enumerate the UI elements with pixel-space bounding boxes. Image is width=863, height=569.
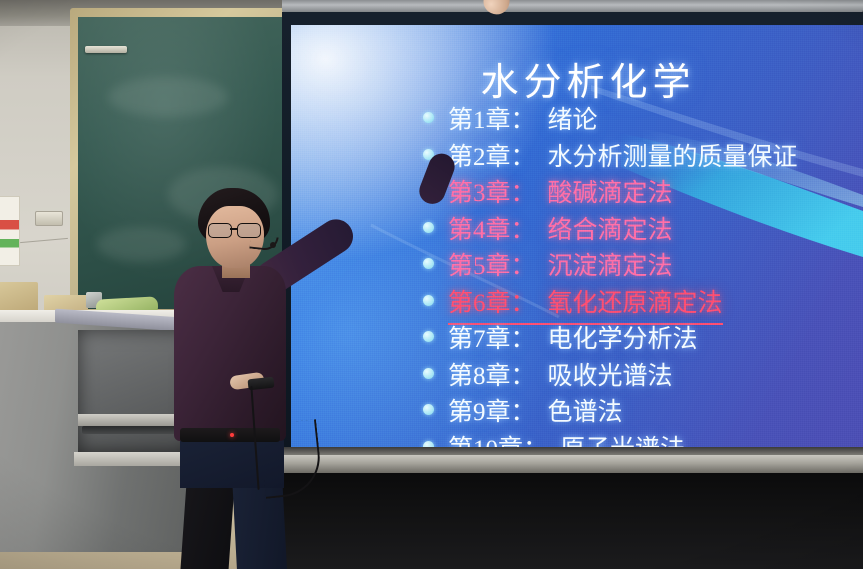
headset-microphone-capsule (270, 242, 276, 248)
wall-socket-plate (35, 211, 63, 226)
lecturer (150, 178, 410, 569)
classroom-photo: 水分析化学 第1章： 绪论 第2章： 水分析测量的质量保证 第3章： 酸碱滴定法… (0, 0, 863, 569)
torso-shirt (174, 266, 286, 441)
transmitter-led-icon (230, 433, 234, 437)
chalk-tray (85, 46, 127, 53)
glasses-bridge (230, 228, 237, 230)
leg-left (177, 476, 235, 569)
glasses-icon (208, 223, 264, 236)
microphone-cable-loop (258, 419, 323, 499)
desk-box-left (0, 282, 38, 312)
wall-poster (0, 196, 20, 266)
glasses-lens-left (208, 223, 232, 238)
